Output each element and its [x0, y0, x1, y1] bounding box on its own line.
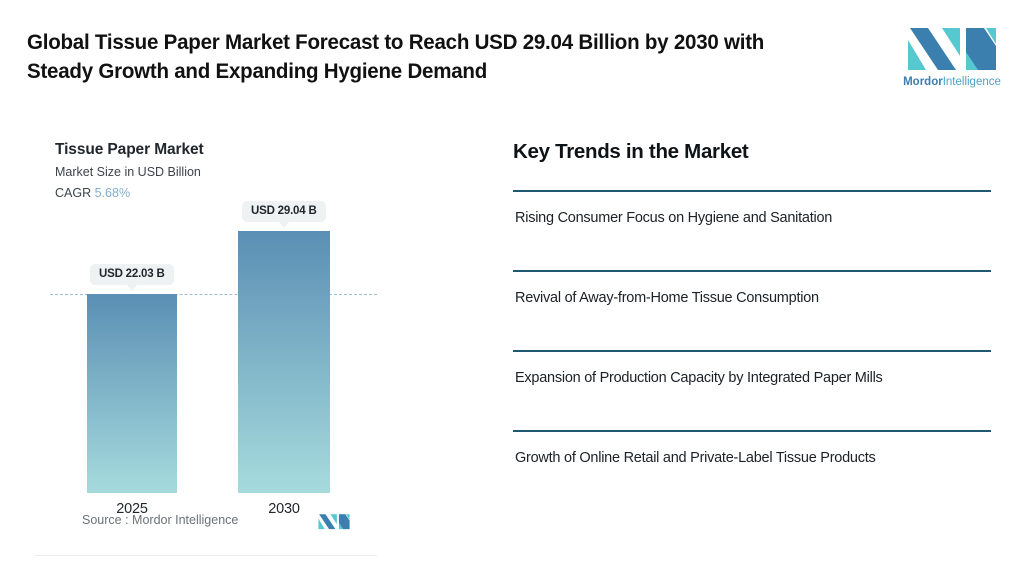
bar-2030[interactable] [238, 231, 330, 493]
cagr-value: 5.68% [95, 186, 130, 200]
trend-item-2[interactable]: Revival of Away-from-Home Tissue Consump… [513, 270, 991, 350]
key-trends-list: Rising Consumer Focus on Hygiene and San… [513, 190, 991, 510]
key-trends-heading: Key Trends in the Market [513, 140, 748, 164]
trend-item-label: Rising Consumer Focus on Hygiene and San… [515, 208, 832, 228]
mordor-intelligence-mark-icon [317, 511, 351, 531]
bar-value-label-2030: USD 29.04 B [242, 201, 326, 222]
trend-item-label: Expansion of Production Capacity by Inte… [515, 368, 883, 388]
page-title: Global Tissue Paper Market Forecast to R… [27, 28, 801, 86]
chart-title: Tissue Paper Market [55, 141, 204, 159]
chart-footer: Source : Mordor Intelligence [55, 511, 365, 533]
trend-item-3[interactable]: Expansion of Production Capacity by Inte… [513, 350, 991, 430]
chart-subtitle: Market Size in USD Billion [55, 165, 201, 179]
trend-item-1[interactable]: Rising Consumer Focus on Hygiene and San… [513, 190, 991, 270]
chart-panel: Tissue Paper Market Market Size in USD B… [35, 133, 377, 556]
source-label: Source : [82, 513, 129, 527]
cagr-label: CAGR [55, 186, 91, 200]
page-header: Global Tissue Paper Market Forecast to R… [0, 0, 1028, 118]
mordor-intelligence-logo: MordorIntelligence [900, 22, 1004, 94]
trend-item-4[interactable]: Growth of Online Retail and Private-Labe… [513, 430, 991, 510]
logo-wordmark-light: Intelligence [943, 76, 1001, 88]
chart-source-text: Source : Mordor Intelligence [82, 513, 238, 527]
bar-2025[interactable] [87, 294, 177, 493]
bar-chart-plot-area: USD 22.03 B USD 29.04 B 2025 2030 [35, 213, 377, 493]
mordor-logo-wordmark: MordorIntelligence [900, 75, 1004, 89]
mordor-logo-mark [904, 22, 1000, 72]
source-name: Mordor Intelligence [132, 513, 238, 527]
key-trends-panel: Key Trends in the Market Rising Consumer… [513, 140, 991, 490]
chart-cagr: CAGR 5.68% [55, 186, 130, 200]
trend-item-label: Revival of Away-from-Home Tissue Consump… [515, 288, 819, 308]
trend-item-label: Growth of Online Retail and Private-Labe… [515, 448, 876, 468]
logo-wordmark-bold: Mordor [903, 76, 943, 88]
page-root: Global Tissue Paper Market Forecast to R… [0, 0, 1028, 584]
bar-value-label-2025: USD 22.03 B [90, 264, 174, 285]
